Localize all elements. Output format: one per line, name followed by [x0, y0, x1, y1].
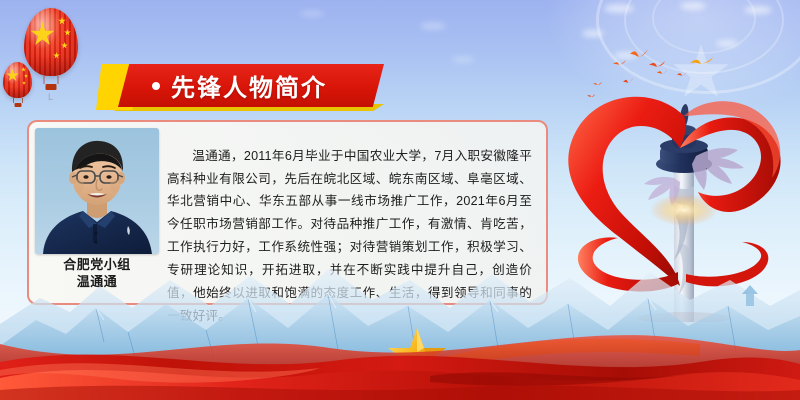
- bird-icon: [628, 46, 650, 66]
- cloud-wisp: [604, 4, 634, 13]
- balloon-large: [24, 8, 78, 76]
- title-banner: 先锋人物简介: [96, 64, 384, 112]
- cloud-wisp: [300, 10, 324, 17]
- cloud-wisp: [716, 40, 738, 47]
- banner-bullet-icon: [152, 82, 160, 90]
- cloud-wisp: [452, 56, 474, 63]
- cloud-wisp: [744, 6, 772, 14]
- red-silk-ribbon: [0, 304, 800, 400]
- balloon-shadow: L: [48, 92, 53, 102]
- bird-icon: [676, 70, 688, 79]
- cloud-wisp: [680, 2, 706, 10]
- balloon-small: [3, 62, 32, 98]
- bird-icon: [656, 68, 668, 77]
- avatar: [35, 128, 159, 254]
- bird-icon: [612, 58, 627, 69]
- bird-icon: [688, 54, 714, 70]
- cloud-wisp: [582, 30, 604, 37]
- page-title: 先锋人物简介: [171, 68, 327, 103]
- bird-icon: [622, 76, 634, 86]
- cloud-wisp: [420, 22, 446, 30]
- poster-canvas: L 先锋人物简介: [0, 0, 800, 400]
- banner-red-plate: 先锋人物简介: [118, 64, 384, 107]
